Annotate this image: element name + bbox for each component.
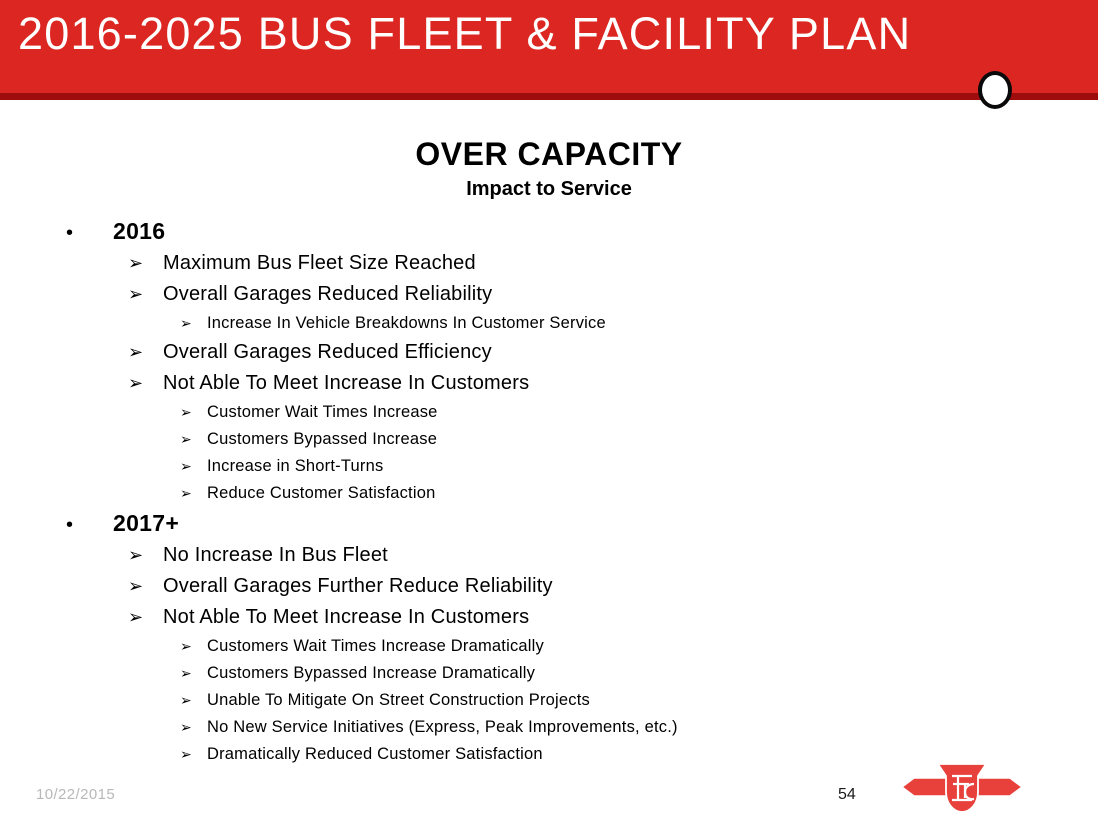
bullet-item-level-3: ➢Unable To Mitigate On Street Constructi… bbox=[0, 690, 1098, 717]
bullet-marker-icon: ➢ bbox=[180, 430, 207, 448]
circle-bullet-icon bbox=[978, 71, 1012, 109]
bullet-item-level-2: ➢Overall Garages Reduced Efficiency bbox=[0, 340, 1098, 371]
bullet-marker-icon: ➢ bbox=[128, 342, 163, 362]
bullet-marker-icon: ➢ bbox=[180, 718, 207, 736]
bullet-label: Customers Bypassed Increase bbox=[207, 429, 437, 450]
ttc-logo bbox=[900, 760, 1024, 816]
bullet-marker-icon: ➢ bbox=[180, 457, 207, 475]
bullet-marker-icon: ➢ bbox=[128, 576, 163, 596]
slide-header-title: 2016-2025 BUS FLEET & FACILITY PLAN bbox=[18, 6, 911, 62]
page-title: OVER CAPACITY bbox=[0, 135, 1098, 173]
bullet-item-level-3: ➢Customers Bypassed Increase Dramaticall… bbox=[0, 663, 1098, 690]
bullet-label: Unable To Mitigate On Street Constructio… bbox=[207, 690, 590, 711]
bullet-item-level-3: ➢Increase in Short-Turns bbox=[0, 456, 1098, 483]
bullet-marker-icon: ➢ bbox=[128, 253, 163, 273]
title-block: OVER CAPACITY Impact to Service bbox=[0, 135, 1098, 202]
bullet-marker-icon: ➢ bbox=[128, 607, 163, 627]
bullet-item-level-2: ➢Not Able To Meet Increase In Customers bbox=[0, 371, 1098, 402]
bullet-item-level-3: ➢Customers Wait Times Increase Dramatica… bbox=[0, 636, 1098, 663]
bullet-label: Increase in Short-Turns bbox=[207, 456, 383, 477]
bullet-label: 2016 bbox=[113, 218, 165, 244]
slide-body: OVER CAPACITY Impact to Service •2016➢Ma… bbox=[0, 100, 1098, 823]
bullet-label: Overall Garages Reduced Reliability bbox=[163, 282, 492, 307]
bullet-marker-icon: ➢ bbox=[180, 314, 207, 332]
bullet-marker-icon: ➢ bbox=[180, 745, 207, 763]
bullet-label: Not Able To Meet Increase In Customers bbox=[163, 605, 529, 630]
bullet-label: Overall Garages Further Reduce Reliabili… bbox=[163, 574, 553, 599]
bullet-item-level-3: ➢Increase In Vehicle Breakdowns In Custo… bbox=[0, 313, 1098, 340]
bullet-label: Customer Wait Times Increase bbox=[207, 402, 438, 423]
bullet-marker-icon: ➢ bbox=[180, 637, 207, 655]
page-subtitle: Impact to Service bbox=[0, 176, 1098, 202]
bullet-label: Maximum Bus Fleet Size Reached bbox=[163, 251, 476, 276]
bullet-label: No New Service Initiatives (Express, Pea… bbox=[207, 717, 678, 738]
bullet-marker-icon: • bbox=[66, 515, 113, 535]
bullet-list: •2016➢Maximum Bus Fleet Size Reached➢Ove… bbox=[0, 218, 1098, 771]
bullet-item-level-1: •2016 bbox=[0, 218, 1098, 251]
bullet-item-level-2: ➢No Increase In Bus Fleet bbox=[0, 543, 1098, 574]
bullet-marker-icon: • bbox=[66, 223, 113, 243]
bullet-item-level-1: •2017+ bbox=[0, 510, 1098, 543]
bullet-item-level-3: ➢Customers Bypassed Increase bbox=[0, 429, 1098, 456]
bullet-label: 2017+ bbox=[113, 510, 179, 536]
footer-date: 10/22/2015 bbox=[36, 786, 115, 803]
bullet-marker-icon: ➢ bbox=[180, 403, 207, 421]
bullet-item-level-3: ➢Reduce Customer Satisfaction bbox=[0, 483, 1098, 510]
bullet-marker-icon: ➢ bbox=[180, 664, 207, 682]
bullet-marker-icon: ➢ bbox=[128, 545, 163, 565]
bullet-marker-icon: ➢ bbox=[180, 691, 207, 709]
bullet-label: Overall Garages Reduced Efficiency bbox=[163, 340, 492, 365]
bullet-label: Not Able To Meet Increase In Customers bbox=[163, 371, 529, 396]
slide-header: 2016-2025 BUS FLEET & FACILITY PLAN bbox=[0, 0, 1098, 100]
bullet-marker-icon: ➢ bbox=[128, 284, 163, 304]
bullet-item-level-2: ➢Overall Garages Reduced Reliability bbox=[0, 282, 1098, 313]
bullet-marker-icon: ➢ bbox=[128, 373, 163, 393]
bullet-item-level-2: ➢Overall Garages Further Reduce Reliabil… bbox=[0, 574, 1098, 605]
bullet-item-level-2: ➢Not Able To Meet Increase In Customers bbox=[0, 605, 1098, 636]
bullet-label: Increase In Vehicle Breakdowns In Custom… bbox=[207, 313, 606, 334]
bullet-label: Dramatically Reduced Customer Satisfacti… bbox=[207, 744, 543, 765]
bullet-label: Customers Bypassed Increase Dramatically bbox=[207, 663, 535, 684]
bullet-label: No Increase In Bus Fleet bbox=[163, 543, 388, 568]
footer-page-number: 54 bbox=[838, 786, 856, 804]
bullet-label: Customers Wait Times Increase Dramatical… bbox=[207, 636, 544, 657]
bullet-item-level-3: ➢Customer Wait Times Increase bbox=[0, 402, 1098, 429]
bullet-item-level-2: ➢Maximum Bus Fleet Size Reached bbox=[0, 251, 1098, 282]
bullet-label: Reduce Customer Satisfaction bbox=[207, 483, 435, 504]
bullet-item-level-3: ➢No New Service Initiatives (Express, Pe… bbox=[0, 717, 1098, 744]
bullet-marker-icon: ➢ bbox=[180, 484, 207, 502]
